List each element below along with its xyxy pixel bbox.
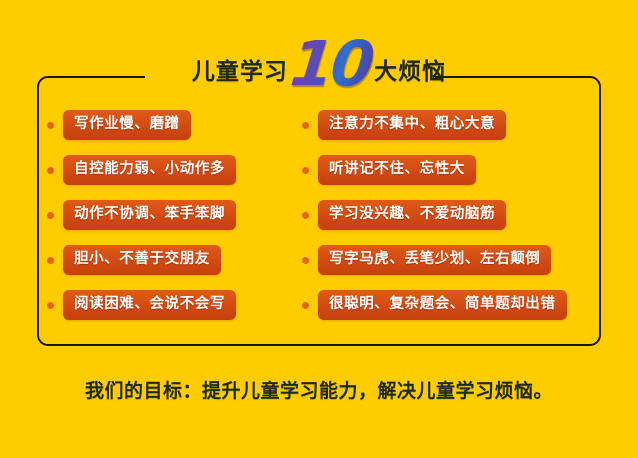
list-item[interactable]: 胆小、不善于交朋友 [47, 245, 302, 275]
list-item[interactable]: 学习没兴趣、不爱动脑筋 [302, 200, 601, 230]
bullet-dot-icon [302, 302, 309, 309]
bullet-dot-icon [47, 167, 54, 174]
bullet-dot-icon [302, 122, 309, 129]
list-item[interactable]: 自控能力弱、小动作多 [47, 155, 302, 185]
bullet-dot-icon [47, 257, 54, 264]
list-item[interactable]: 写字马虎、丢笔少划、左右颠倒 [302, 245, 601, 275]
frame-title-gap [145, 70, 435, 84]
bullet-dot-icon [47, 212, 54, 219]
list-item[interactable]: 很聪明、复杂题会、简单题却出错 [302, 290, 601, 320]
problem-label[interactable]: 很聪明、复杂题会、简单题却出错 [318, 290, 567, 320]
bullet-dot-icon [302, 167, 309, 174]
problem-list: 写作业慢、磨蹭 自控能力弱、小动作多 动作不协调、笨手笨脚 胆小、不善于交朋友 … [37, 110, 601, 320]
list-item[interactable]: 动作不协调、笨手笨脚 [47, 200, 302, 230]
bullet-dot-icon [47, 122, 54, 129]
problem-label[interactable]: 写作业慢、磨蹭 [63, 110, 191, 140]
bullet-dot-icon [302, 212, 309, 219]
problem-column-right: 注意力不集中、粗心大意 听讲记不住、忘性大 学习没兴趣、不爱动脑筋 写字马虎、丢… [302, 110, 601, 320]
problem-label[interactable]: 胆小、不善于交朋友 [63, 245, 221, 275]
problem-label[interactable]: 听讲记不住、忘性大 [318, 155, 476, 185]
problem-label[interactable]: 学习没兴趣、不爱动脑筋 [318, 200, 506, 230]
problem-label[interactable]: 注意力不集中、粗心大意 [318, 110, 506, 140]
list-item[interactable]: 写作业慢、磨蹭 [47, 110, 302, 140]
problem-label[interactable]: 阅读困难、会说不会写 [63, 290, 236, 320]
list-item[interactable]: 阅读困难、会说不会写 [47, 290, 302, 320]
list-item[interactable]: 注意力不集中、粗心大意 [302, 110, 601, 140]
footer-goal-text: 我们的目标：提升儿童学习能力，解决儿童学习烦恼。 [0, 376, 638, 403]
problem-label[interactable]: 动作不协调、笨手笨脚 [63, 200, 236, 230]
poster-canvas: 儿童学习 10 大烦恼 写作业慢、磨蹭 自控能力弱、小动作多 动作不协调、笨手笨… [0, 0, 638, 458]
bullet-dot-icon [302, 257, 309, 264]
list-item[interactable]: 听讲记不住、忘性大 [302, 155, 601, 185]
bullet-dot-icon [47, 302, 54, 309]
problem-label[interactable]: 自控能力弱、小动作多 [63, 155, 236, 185]
problem-column-left: 写作业慢、磨蹭 自控能力弱、小动作多 动作不协调、笨手笨脚 胆小、不善于交朋友 … [37, 110, 302, 320]
problem-label[interactable]: 写字马虎、丢笔少划、左右颠倒 [318, 245, 551, 275]
